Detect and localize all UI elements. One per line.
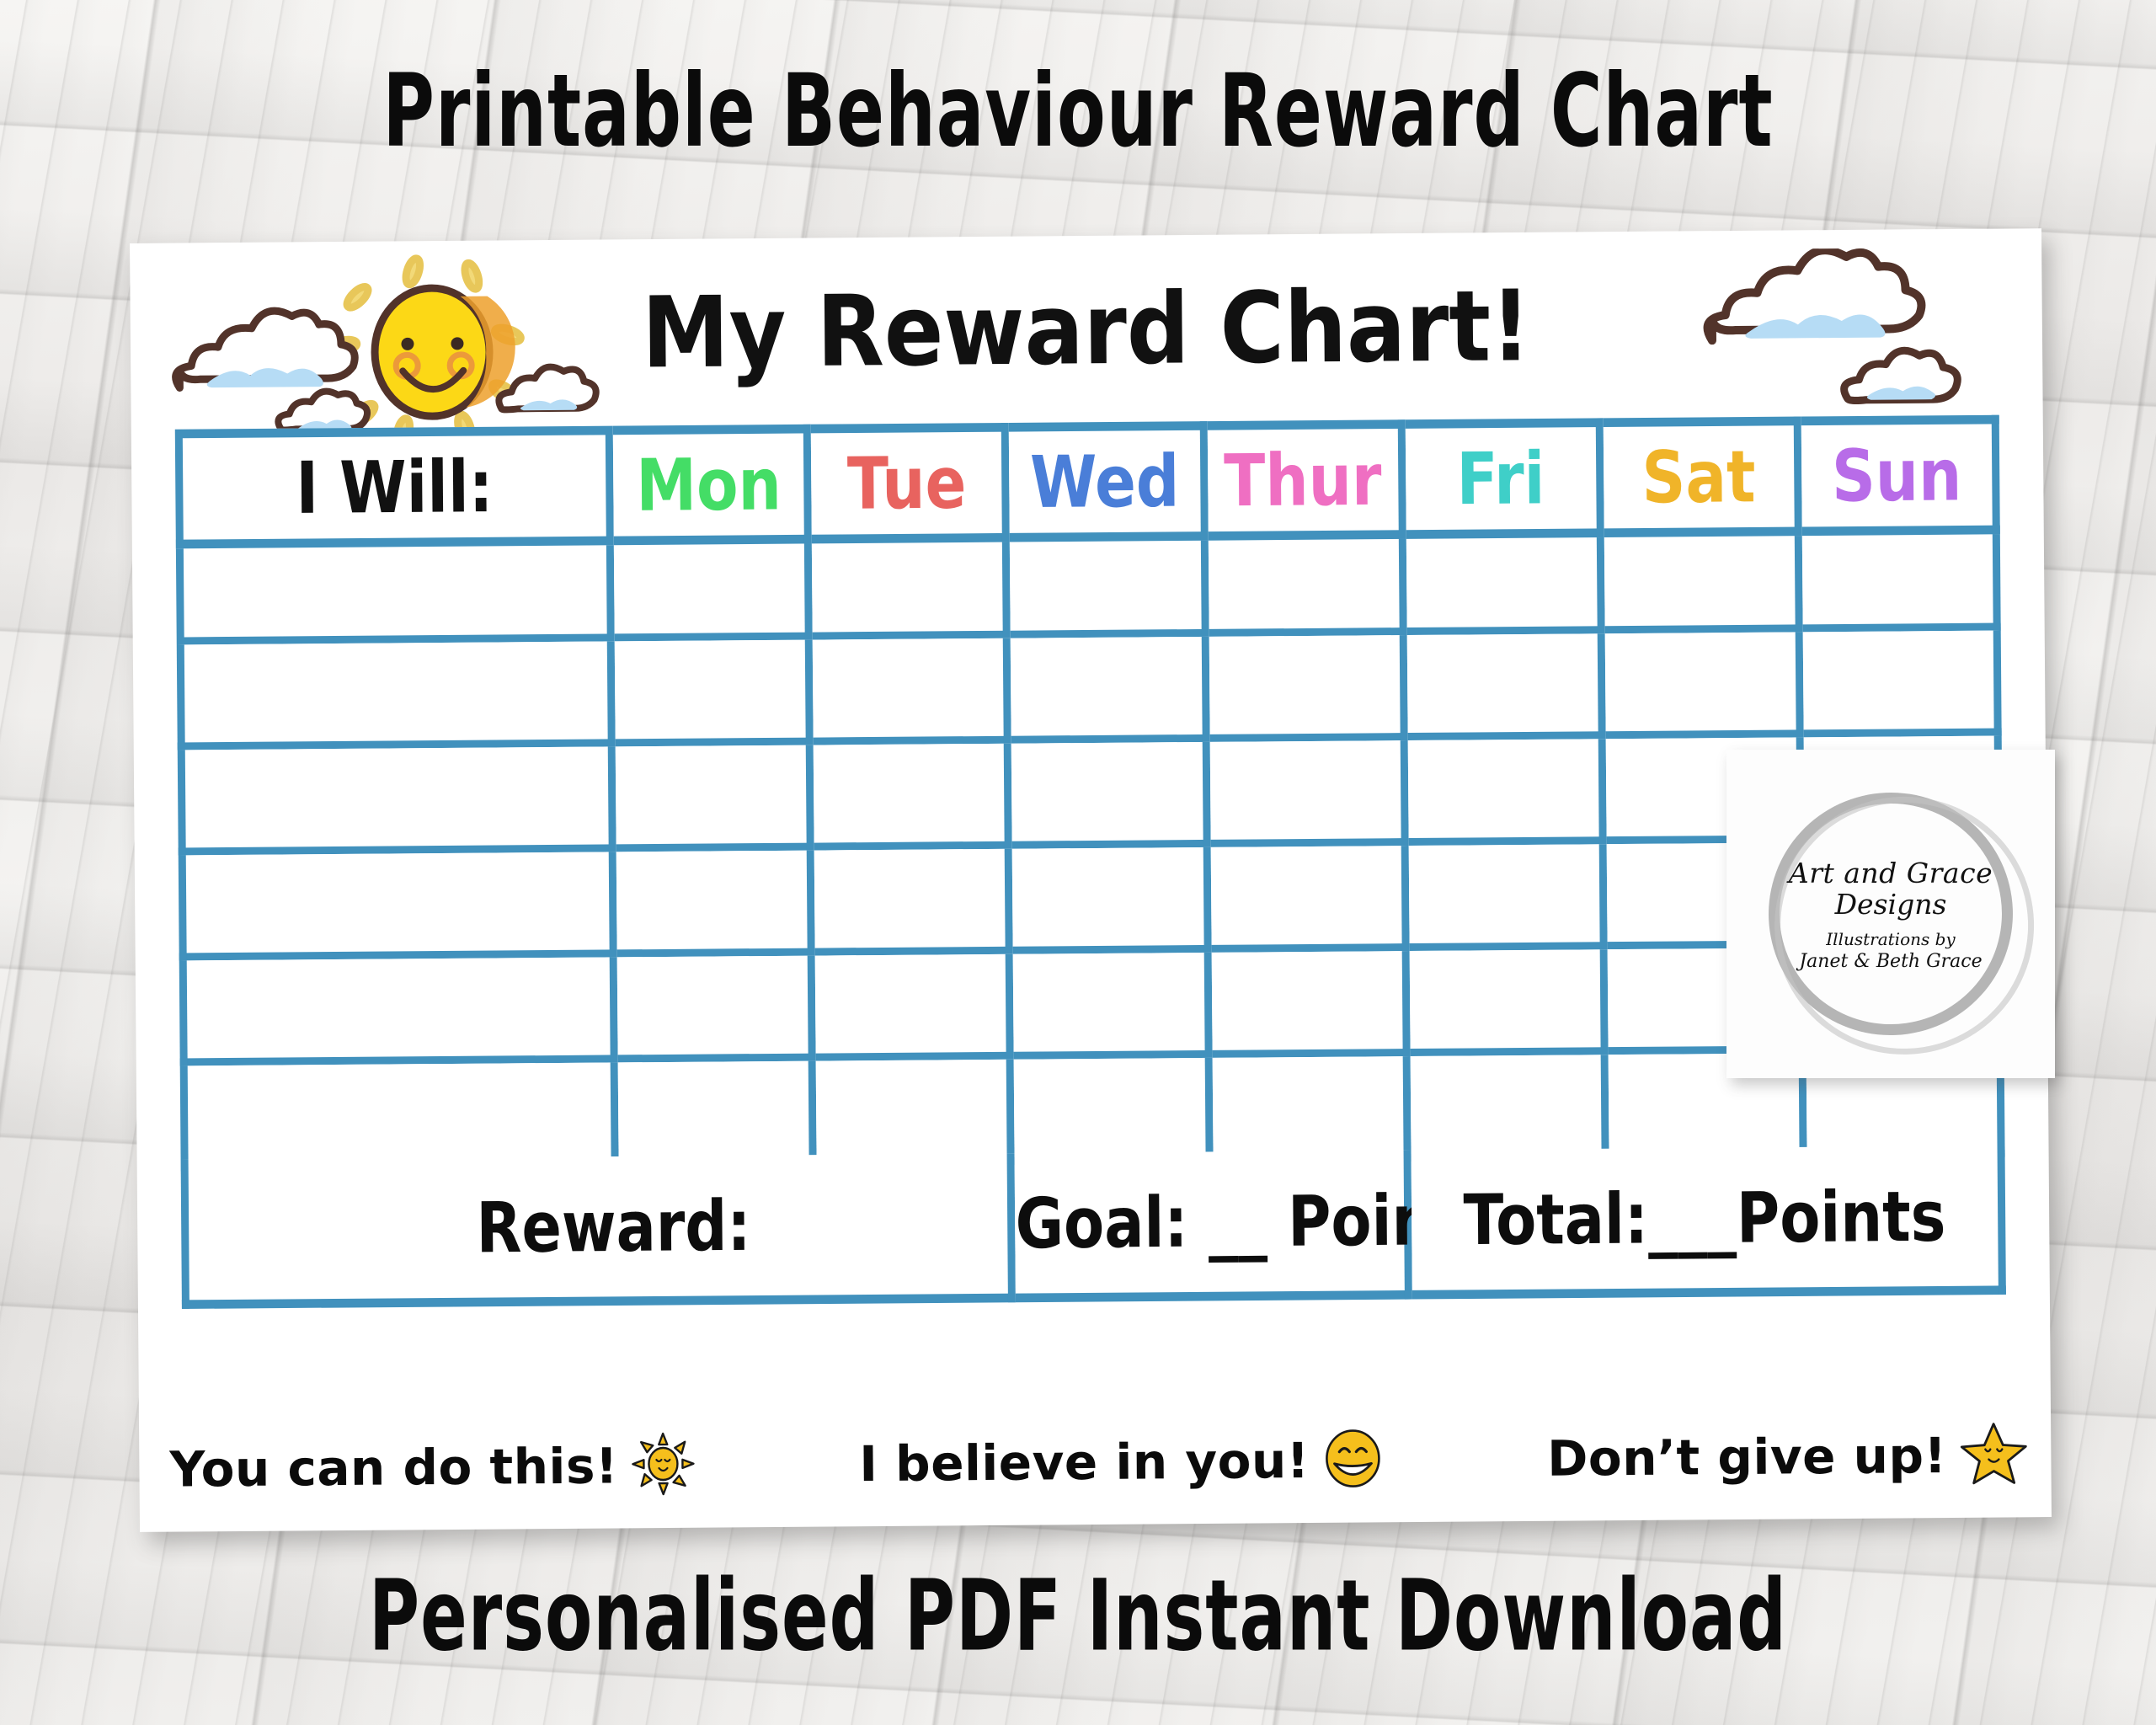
watermark-inner: Art and Grace Designs Illustrations by J… [1752, 775, 2030, 1053]
encouragement-item-2: I believe in you! [859, 1428, 1384, 1496]
day-cell-tue[interactable] [816, 1060, 1015, 1167]
header-day-sat: Sat [1603, 417, 1801, 537]
table-row [177, 631, 2002, 750]
promo-bottom-heading: Personalised PDF Instant Download [0, 1560, 2156, 1674]
day-cell-thur[interactable] [1210, 846, 1409, 953]
header-day-tue: Tue [811, 423, 1010, 543]
day-cell-tue[interactable] [813, 638, 1011, 745]
task-cell[interactable] [179, 957, 618, 1065]
grinning-face-icon [1322, 1428, 1384, 1493]
day-cell-mon[interactable] [618, 1061, 817, 1168]
sun-icon [632, 1432, 696, 1500]
encouragement-text-3: Don’t give up! [1547, 1427, 1947, 1487]
header-day-sun: Sun [1801, 415, 1999, 536]
day-cell-tue[interactable] [812, 533, 1011, 640]
task-cell[interactable] [178, 746, 616, 855]
day-cell-thur[interactable] [1212, 1056, 1411, 1163]
day-cell-mon[interactable] [616, 745, 814, 852]
day-cell-tue[interactable] [814, 744, 1012, 851]
day-cell-tue[interactable] [815, 954, 1014, 1061]
day-cell-fri[interactable] [1406, 633, 1605, 740]
day-cell-thur[interactable] [1209, 740, 1408, 847]
encouragement-text-2: I believe in you! [859, 1432, 1310, 1493]
task-cell[interactable] [176, 536, 615, 644]
day-cell-sun[interactable] [1802, 526, 2001, 633]
watermark-logo: Art and Grace Designs Illustrations by J… [1726, 750, 2055, 1078]
chart-heading: My Reward Chart! [130, 264, 2042, 394]
day-cell-mon[interactable] [616, 851, 815, 958]
task-cell[interactable] [180, 1062, 619, 1171]
decoration-band: My Reward Chart! [130, 228, 2043, 437]
day-cell-mon[interactable] [615, 640, 814, 747]
header-i-will: I Will: [175, 426, 614, 549]
day-cell-wed[interactable] [1012, 847, 1211, 954]
encouragement-text-1: You can do this! [169, 1437, 618, 1498]
day-cell-fri[interactable] [1409, 949, 1608, 1056]
table-header-row: I Will: Mon Tue Wed Thur Fri Sat Sun [175, 425, 2000, 540]
encouragement-item-1: You can do this! [169, 1432, 696, 1503]
task-cell[interactable] [179, 852, 617, 960]
day-cell-thur[interactable] [1209, 635, 1407, 742]
watermark-name-line1: Art and Grace [1789, 857, 1993, 889]
table-footer-row: Reward: Goal: __ Points Total:___Points [181, 1156, 2006, 1297]
day-cell-thur[interactable] [1208, 530, 1406, 637]
watermark-sub-line1: Illustrations by [1826, 929, 1955, 949]
day-cell-mon[interactable] [614, 535, 813, 642]
day-cell-wed[interactable] [1011, 742, 1210, 849]
day-cell-mon[interactable] [617, 956, 816, 1063]
watermark-name-line2: Designs [1835, 888, 1947, 921]
day-cell-thur[interactable] [1211, 951, 1410, 1058]
goal-points-label[interactable]: Goal: __ Points [1015, 1151, 1412, 1303]
day-cell-wed[interactable] [1014, 1058, 1213, 1165]
day-cell-fri[interactable] [1408, 844, 1607, 951]
encouragement-strip: You can do this! [169, 1414, 2028, 1509]
day-cell-wed[interactable] [1010, 531, 1209, 638]
total-points-label[interactable]: Total:___Points [1411, 1146, 2006, 1300]
encouragement-item-3: Don’t give up! [1547, 1421, 2028, 1492]
day-cell-tue[interactable] [814, 849, 1013, 956]
header-day-fri: Fri [1405, 418, 1604, 538]
day-cell-fri[interactable] [1406, 528, 1604, 635]
day-cell-sat[interactable] [1604, 526, 1802, 633]
watermark-sub-line2: Janet & Beth Grace [1799, 951, 1982, 972]
header-day-mon: Mon [613, 425, 812, 545]
day-cell-sat[interactable] [1604, 632, 1803, 739]
day-cell-fri[interactable] [1410, 1055, 1609, 1162]
header-day-wed: Wed [1009, 421, 1208, 542]
day-cell-wed[interactable] [1013, 953, 1212, 1060]
star-icon [1960, 1421, 2028, 1489]
day-cell-wed[interactable] [1011, 637, 1209, 744]
day-cell-fri[interactable] [1407, 739, 1606, 846]
task-cell[interactable] [177, 641, 616, 750]
day-cell-sun[interactable] [1803, 631, 2002, 738]
promo-top-heading: Printable Behaviour Reward Chart [0, 52, 2156, 169]
header-day-thur: Thur [1207, 419, 1406, 540]
reward-label[interactable]: Reward: [181, 1153, 1017, 1309]
